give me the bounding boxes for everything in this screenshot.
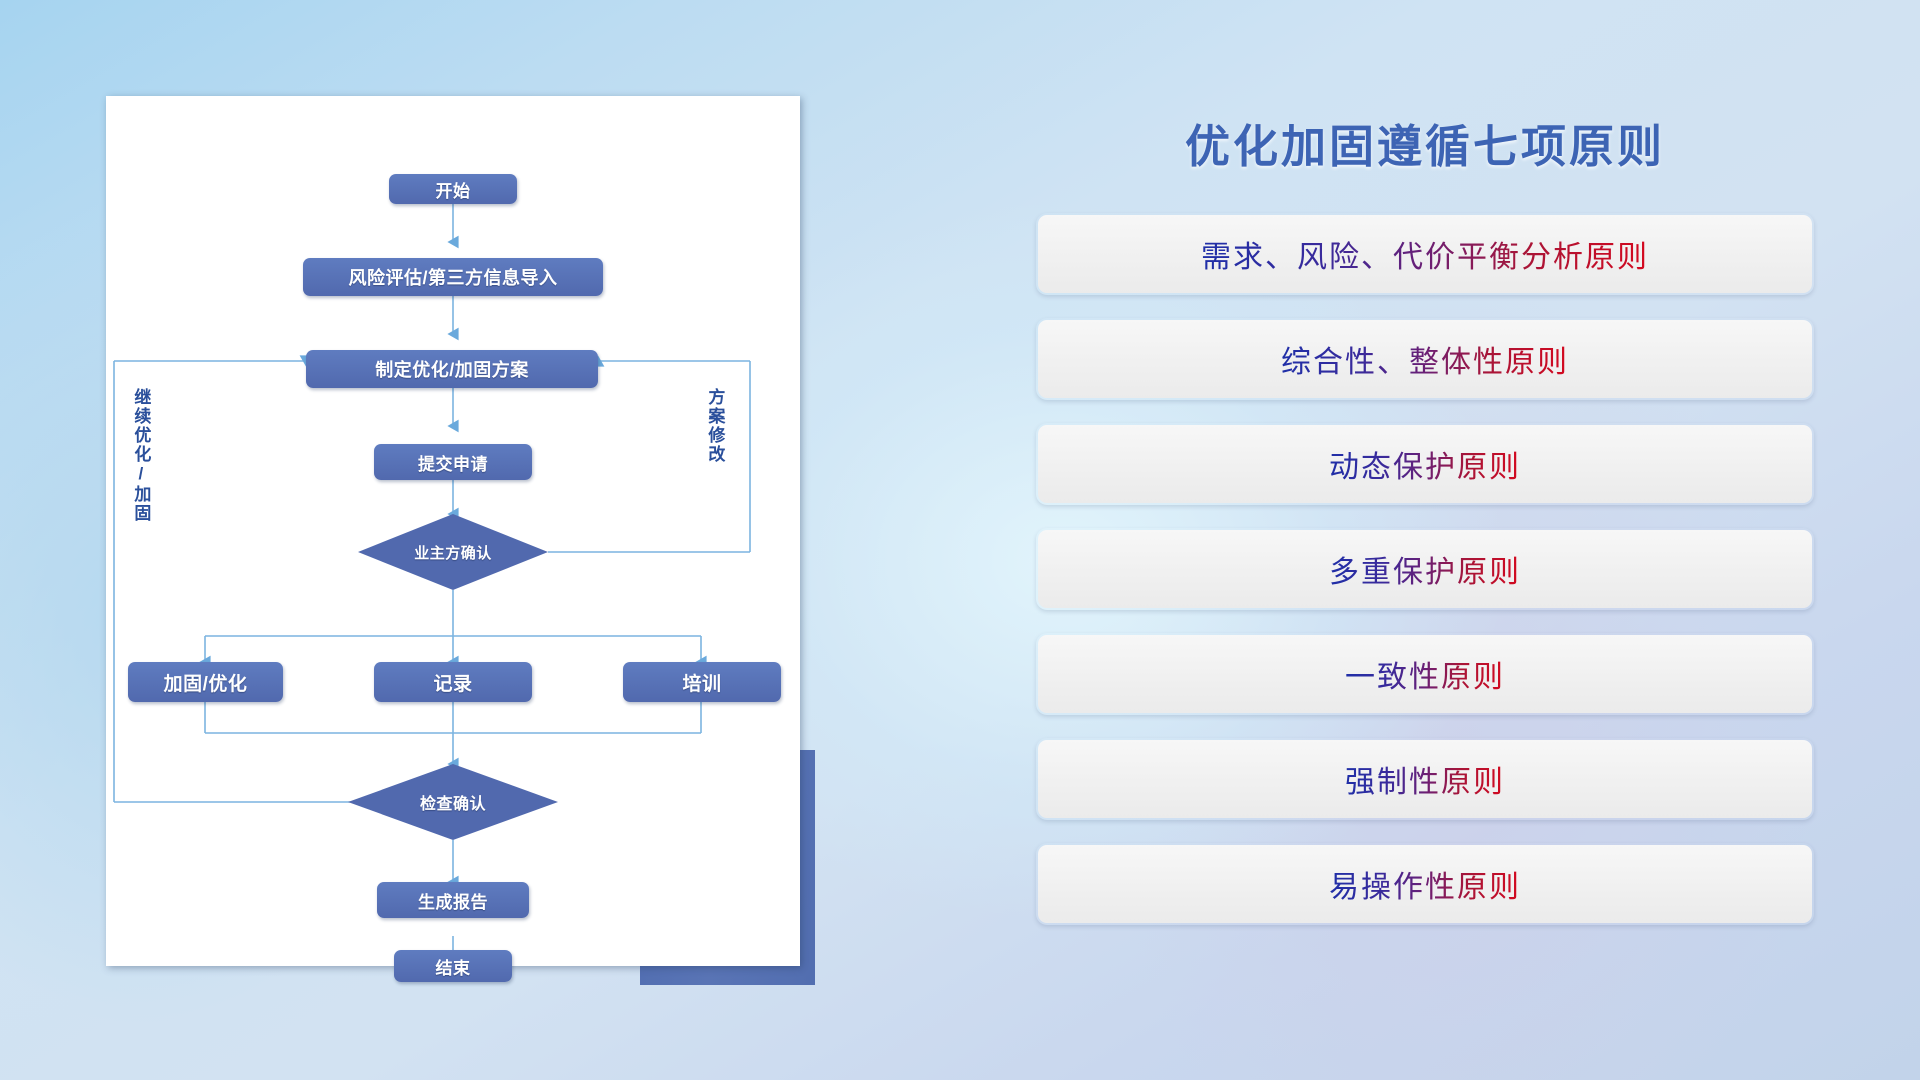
node-risk-assessment-label: 风险评估/第三方信息导入	[349, 264, 558, 290]
node-start-label: 开始	[436, 177, 471, 202]
node-generate-report-label: 生成报告	[418, 888, 488, 913]
node-make-plan[interactable]: 制定优化/加固方案	[306, 350, 598, 388]
node-training-label: 培训	[682, 669, 721, 696]
node-submit-application-label: 提交申请	[418, 450, 488, 475]
node-reinforce-optimize-label: 加固/优化	[164, 669, 248, 696]
edge-label-continue-optimize: 继续优化/加固	[132, 388, 149, 548]
node-submit-application[interactable]: 提交申请	[374, 444, 532, 480]
node-check-confirm[interactable]: 检查确认	[348, 764, 558, 840]
node-end-label: 结束	[436, 954, 471, 979]
principle-card-label: 动态保护原则	[1329, 442, 1521, 486]
principle-card[interactable]: 需求、风险、代价平衡分析原则	[1036, 213, 1814, 295]
node-owner-confirm-label: 业主方确认	[414, 542, 492, 563]
node-make-plan-label: 制定优化/加固方案	[375, 356, 529, 382]
principles-column: 优化加固遵循七项原则 需求、风险、代价平衡分析原则 综合性、整体性原则 动态保护…	[1020, 96, 1830, 996]
flowchart-panel: 开始 风险评估/第三方信息导入 制定优化/加固方案 提交申请 业主方确认 加固/…	[106, 96, 800, 966]
edge-label-plan-revision: 方案修改	[706, 388, 723, 508]
node-owner-confirm[interactable]: 业主方确认	[358, 514, 548, 590]
flowchart: 开始 风险评估/第三方信息导入 制定优化/加固方案 提交申请 业主方确认 加固/…	[106, 96, 800, 966]
node-end[interactable]: 结束	[394, 950, 512, 982]
principle-card[interactable]: 动态保护原则	[1036, 423, 1814, 505]
node-start[interactable]: 开始	[389, 174, 517, 204]
slide-canvas: 开始 风险评估/第三方信息导入 制定优化/加固方案 提交申请 业主方确认 加固/…	[0, 0, 1920, 1080]
node-check-confirm-label: 检查确认	[420, 790, 486, 814]
principle-card[interactable]: 综合性、整体性原则	[1036, 318, 1814, 400]
principle-card-label: 需求、风险、代价平衡分析原则	[1201, 232, 1649, 276]
principle-card[interactable]: 强制性原则	[1036, 738, 1814, 820]
principle-card-label: 多重保护原则	[1329, 547, 1521, 591]
node-training[interactable]: 培训	[623, 662, 781, 702]
principle-card-label: 易操作性原则	[1329, 862, 1521, 906]
node-generate-report[interactable]: 生成报告	[377, 882, 529, 918]
principle-card-label: 强制性原则	[1345, 757, 1505, 801]
principle-card[interactable]: 易操作性原则	[1036, 843, 1814, 925]
page-title: 优化加固遵循七项原则	[1020, 110, 1830, 175]
node-risk-assessment[interactable]: 风险评估/第三方信息导入	[303, 258, 603, 296]
node-record[interactable]: 记录	[374, 662, 532, 702]
principle-card[interactable]: 一致性原则	[1036, 633, 1814, 715]
node-reinforce-optimize[interactable]: 加固/优化	[128, 662, 283, 702]
principle-card[interactable]: 多重保护原则	[1036, 528, 1814, 610]
node-record-label: 记录	[433, 669, 472, 696]
principle-card-label: 一致性原则	[1345, 652, 1505, 696]
principle-card-label: 综合性、整体性原则	[1281, 337, 1569, 381]
